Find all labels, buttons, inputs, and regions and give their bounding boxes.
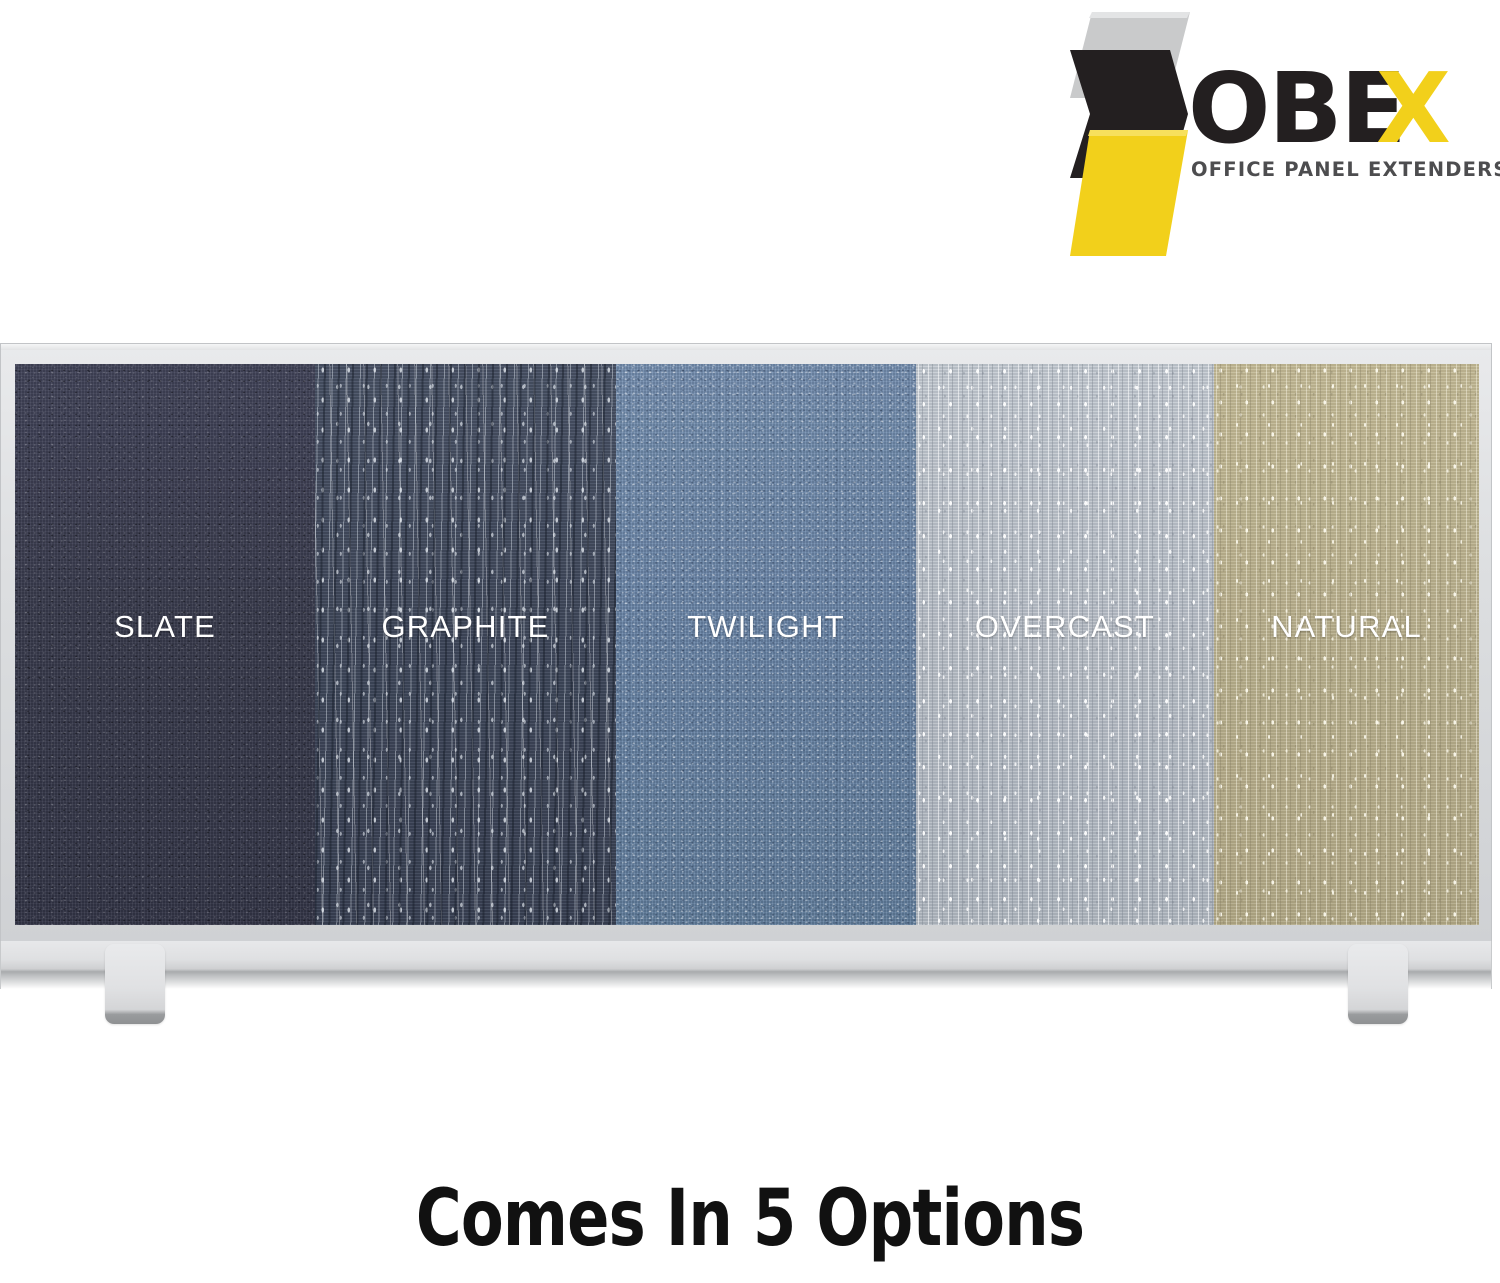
obex-parallelogram-mark-icon: [1070, 10, 1190, 258]
brand-logo: OBE X OFFICE PANEL EXTENDERS: [1070, 8, 1470, 198]
swatch-graphite[interactable]: GRAPHITE: [315, 364, 616, 925]
swatch-twilight[interactable]: TWILIGHT: [616, 364, 916, 925]
panel-bottom-rail: [0, 941, 1492, 989]
swatch-natural[interactable]: NATURAL: [1214, 364, 1479, 925]
swatch-twilight-label: TWILIGHT: [616, 609, 916, 645]
fabric-swatch-strip: SLATE GRAPHITE TWILIGHT OVERCAST NATURAL: [15, 364, 1479, 925]
obex-wordmark: OBE X OFFICE PANEL EXTENDERS: [1188, 60, 1478, 190]
mounting-clamp-left: [105, 944, 165, 1024]
swatch-natural-label: NATURAL: [1214, 609, 1479, 645]
obex-wordmark-dark: OBE: [1188, 60, 1405, 157]
product-caption: Comes In 5 Options: [150, 1180, 1350, 1258]
mounting-clamp-right: [1348, 944, 1408, 1024]
swatch-overcast-label: OVERCAST: [916, 609, 1214, 645]
panel-aluminum-frame: SLATE GRAPHITE TWILIGHT OVERCAST NATURAL: [0, 343, 1492, 943]
swatch-slate-label: SLATE: [15, 609, 315, 645]
swatch-graphite-label: GRAPHITE: [315, 609, 616, 645]
panel-extender-product: SLATE GRAPHITE TWILIGHT OVERCAST NATURAL: [0, 343, 1500, 1003]
swatch-overcast[interactable]: OVERCAST: [916, 364, 1214, 925]
frame-top-highlight: [1, 344, 1491, 350]
obex-wordmark-x: X: [1376, 60, 1451, 157]
swatch-slate[interactable]: SLATE: [15, 364, 315, 925]
obex-tagline: OFFICE PANEL EXTENDERS: [1191, 158, 1500, 181]
